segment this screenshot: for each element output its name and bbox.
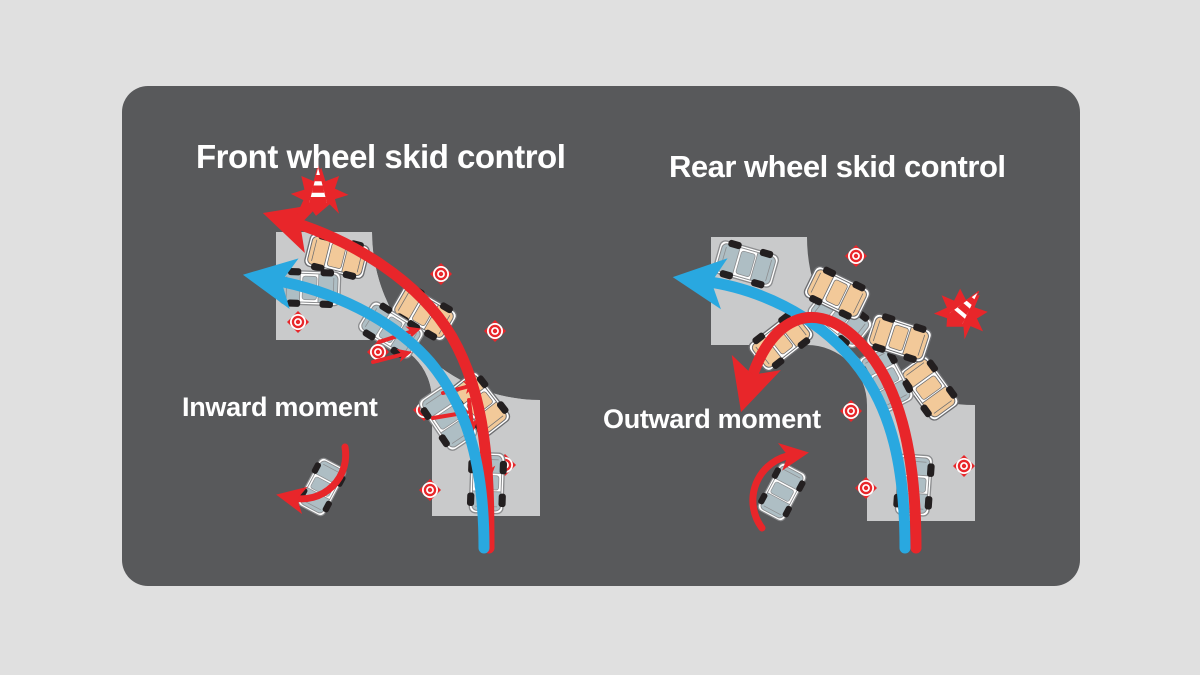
panel-title-front-wheel: Front wheel skid control	[196, 138, 565, 176]
diagram-stage: Front wheel skid control Rear wheel skid…	[0, 0, 1200, 675]
panel-title-rear-wheel: Rear wheel skid control	[669, 149, 1006, 185]
inward-moment-label: Inward moment	[182, 392, 378, 423]
outward-moment-label: Outward moment	[603, 404, 821, 435]
